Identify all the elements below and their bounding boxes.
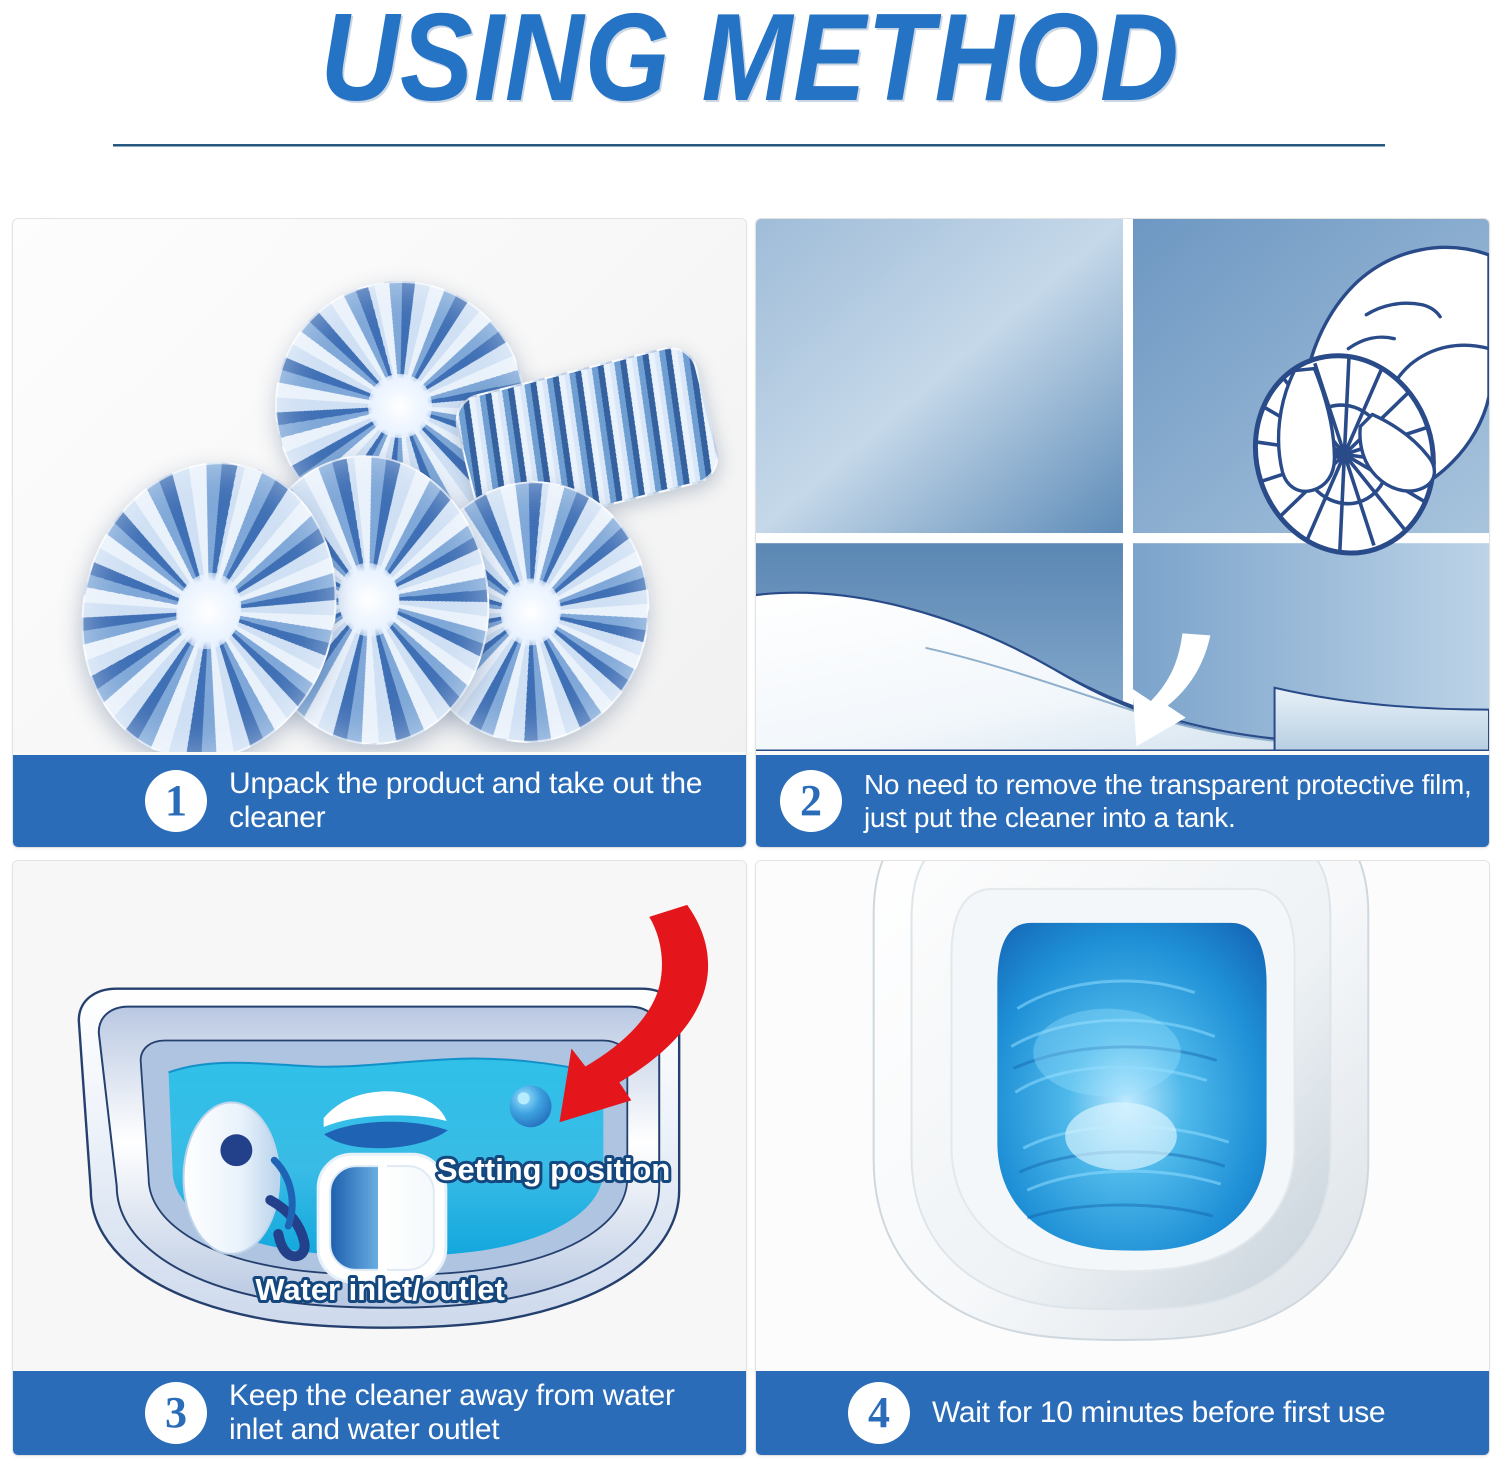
tank-cutaway-diagram: Setting position Water inlet/outlet [13, 861, 746, 1370]
step-2-caption: 2 No need to remove the transparent prot… [756, 755, 1489, 847]
step-4-caption: 4 Wait for 10 minutes before first use [756, 1371, 1489, 1455]
step-number-badge: 2 [780, 770, 842, 832]
step-1-image [13, 219, 746, 752]
step-2-image [756, 219, 1489, 752]
setting-position-label: Setting position [437, 1152, 670, 1187]
step-card-3: Setting position Water inlet/outlet 3 Ke… [12, 860, 747, 1456]
water-inlet-outlet-label: Water inlet/outlet [255, 1272, 505, 1307]
hand-dropping-cleaner-illustration [756, 219, 1489, 751]
header: USING METHOD [0, 0, 1500, 200]
step-number-badge: 3 [145, 1382, 207, 1444]
page-title: USING METHOD [90, 0, 1410, 122]
step-caption-text: Keep the cleaner away from water inlet a… [229, 1379, 732, 1447]
step-card-1: 1 Unpack the product and take out the cl… [12, 218, 747, 848]
step-1-caption: 1 Unpack the product and take out the cl… [13, 755, 746, 847]
step-3-image: Setting position Water inlet/outlet [13, 861, 746, 1371]
blue-water [997, 923, 1266, 1251]
step-card-2: 2 No need to remove the transparent prot… [755, 218, 1490, 848]
title-divider [113, 144, 1385, 147]
step-4-image [756, 861, 1489, 1371]
water-inlet-outlet-icon [318, 1154, 446, 1282]
step-3-caption: 3 Keep the cleaner away from water inlet… [13, 1371, 746, 1455]
step-caption-text: No need to remove the transparent protec… [864, 768, 1475, 834]
step-number-badge: 1 [145, 770, 207, 832]
step-number-badge: 4 [848, 1382, 910, 1444]
steps-grid: 1 Unpack the product and take out the cl… [0, 200, 1500, 1466]
step-caption-text: Wait for 10 minutes before first use [932, 1396, 1385, 1430]
step-card-4: 4 Wait for 10 minutes before first use [755, 860, 1490, 1456]
step-caption-text: Unpack the product and take out the clea… [229, 767, 732, 835]
toilet-bowl-blue-water-illustration [756, 861, 1489, 1370]
infographic-page: USING METHOD 1 Unpack the product and ta… [0, 0, 1500, 1466]
setting-position-ball-icon [510, 1085, 552, 1127]
